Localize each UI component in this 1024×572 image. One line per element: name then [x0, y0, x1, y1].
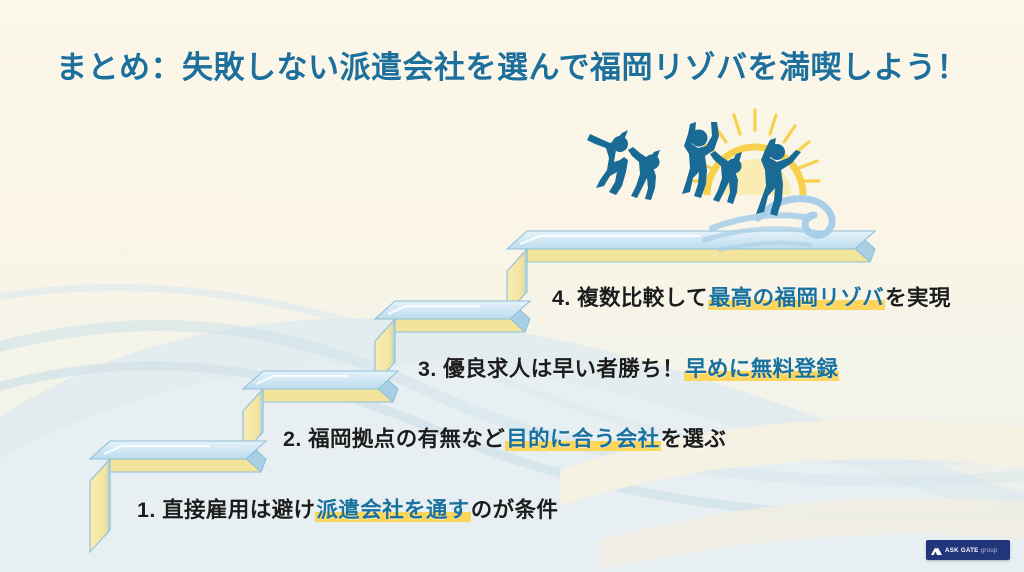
logo-brand: ASK GATE	[945, 547, 979, 554]
step-2-suffix: を選ぶ	[661, 427, 727, 451]
jumping-silhouettes	[587, 122, 801, 216]
step-4-highlight: 最高の福岡リゾバ	[708, 286, 885, 310]
step-1-prefix: 1. 直接雇用は避け	[137, 498, 315, 522]
step-4-suffix: を実現	[885, 286, 951, 310]
step-text-4: 4. 複数比較して最高の福岡リゾバを実現	[552, 281, 951, 312]
wave-swirl-icon	[704, 199, 832, 250]
step-text-2: 2. 福岡拠点の有無など目的に合う会社を選ぶ	[283, 422, 726, 453]
mountain-triangle-icon	[931, 545, 942, 555]
step-1-suffix: のが条件	[471, 498, 559, 522]
slide-canvas: まとめ：失敗しない派遣会社を選んで福岡リゾバを満喫しよう！	[0, 0, 1024, 572]
step-text-3: 3. 優良求人は早い者勝ち！早めに無料登録	[418, 352, 839, 383]
step-3-highlight: 早めに無料登録	[684, 357, 839, 381]
step-text-1: 1. 直接雇用は避け派遣会社を通すのが条件	[137, 493, 558, 524]
logo-suffix: group	[981, 547, 998, 554]
ask-gate-group-logo: ASK GATE group	[926, 540, 1010, 560]
step-1-highlight: 派遣会社を通す	[315, 498, 470, 522]
step-2-highlight: 目的に合う会社	[505, 427, 660, 451]
step-2-prefix: 2. 福岡拠点の有無など	[283, 427, 505, 451]
step-3-prefix: 3. 優良求人は早い者勝ち！	[418, 357, 684, 381]
logo-text: ASK GATE group	[945, 547, 998, 554]
step-4-prefix: 4. 複数比較して	[552, 286, 708, 310]
jumping-people-illustration	[562, 100, 862, 260]
